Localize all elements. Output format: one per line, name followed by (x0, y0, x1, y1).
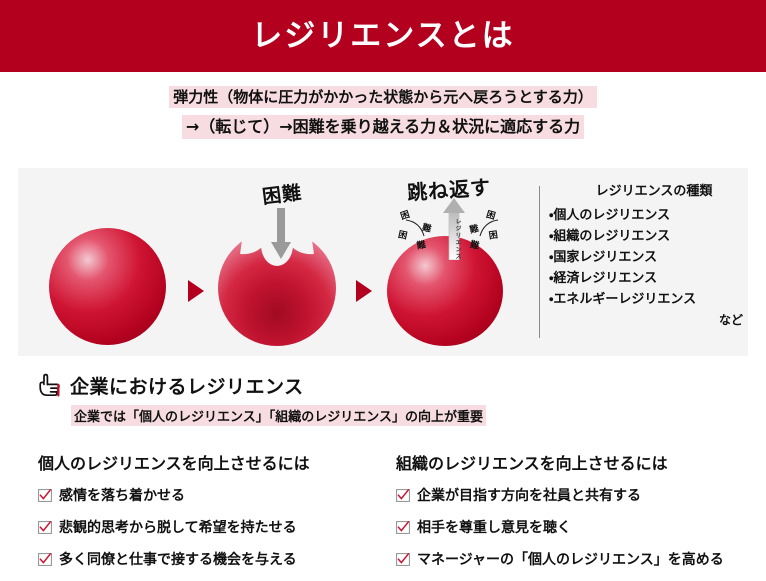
list-item-label: 企業が目指す方向を社員と共有する (417, 485, 641, 505)
header-banner: レジリエンスとは (0, 0, 766, 72)
resilience-arrow-label: レジリエンス (446, 218, 460, 260)
definition-line-2: →（転じて）→困難を乗り越える力＆状況に適応する力 (182, 115, 584, 139)
types-title: レジリエンスの種類 (559, 180, 749, 199)
list-item: マネージャーの「個人のレジリエンス」を高める (396, 549, 726, 569)
improvement-columns: 個人のレジリエンスを向上させるには 感情を落ち着かせる 悲観的思考から脱して希望… (38, 450, 748, 581)
infographic-page: レジリエンスとは 弾力性（物体に圧力がかかった状態から元へ戻ろうとする力） →（… (0, 0, 766, 570)
list-item: 多く同僚と仕事で接する機会を与える (38, 549, 368, 569)
list-item: ・エネルギーレジリエンス (549, 289, 749, 310)
definition-block: 弾力性（物体に圧力がかかった状態から元へ戻ろうとする力） →（転じて）→困難を乗… (0, 86, 766, 139)
column-title: 個人のレジリエンスを向上させるには (38, 450, 368, 474)
corporate-subtitle: 企業では「個人のレジリエンス」「組織のレジリエンス」の向上が重要 (71, 405, 486, 426)
resilience-types-block: レジリエンスの種類 ・個人のレジリエンス ・組織のレジリエンス ・国家レジリエン… (549, 180, 749, 328)
checkbox-checked-icon (38, 489, 52, 502)
list-item-label: 悲観的思考から脱して希望を持たせる (59, 517, 297, 537)
fragment-trail-left-icon (404, 216, 430, 242)
fragment-trail-right-icon (474, 216, 500, 242)
panel-divider (539, 186, 540, 338)
list-item-label: 多く同僚と仕事で接する機会を与える (59, 549, 297, 569)
list-item: ・国家レジリエンス (549, 247, 749, 268)
fragment-8: 難 (469, 241, 480, 252)
list-item: ・個人のレジリエンス (549, 205, 749, 226)
checkbox-checked-icon (38, 521, 52, 534)
list-item-label: 感情を落ち着かせる (59, 485, 185, 505)
stage-marker-2-icon (356, 280, 372, 302)
column-title: 組織のレジリエンスを向上させるには (396, 450, 726, 474)
types-list: ・個人のレジリエンス ・組織のレジリエンス ・国家レジリエンス ・経済レジリエン… (549, 205, 749, 310)
fragment-4: 難 (416, 241, 426, 251)
checkbox-checked-icon (396, 489, 410, 502)
definition-line-1: 弾力性（物体に圧力がかかった状態から元へ戻ろうとする力） (169, 86, 597, 108)
resilience-stage-diagram: 困難 跳ね返す レジリエンス (18, 168, 539, 356)
list-item: ・経済レジリエンス (549, 268, 749, 289)
checkbox-checked-icon (396, 553, 410, 566)
list-item: 悲観的思考から脱して希望を持たせる (38, 517, 368, 537)
types-etc-label: など (549, 311, 749, 328)
checkbox-checked-icon (396, 521, 410, 534)
list-item-label: マネージャーの「個人のレジリエンス」を高める (417, 549, 724, 569)
pointing-hand-icon (38, 373, 62, 399)
stage-marker-1-icon (188, 280, 204, 302)
list-item: 企業が目指す方向を社員と共有する (396, 485, 726, 505)
corporate-title: 企業におけるレジリエンス (70, 372, 304, 399)
list-item: 相手を尊重し意見を聴く (396, 517, 726, 537)
list-item: 感情を落ち着かせる (38, 485, 368, 505)
list-item-label: 相手を尊重し意見を聴く (417, 517, 571, 537)
difficulty-down-arrow-icon (270, 208, 292, 260)
column-individual: 個人のレジリエンスを向上させるには 感情を落ち着かせる 悲観的思考から脱して希望… (38, 450, 368, 581)
column-organizational: 組織のレジリエンスを向上させるには 企業が目指す方向を社員と共有する 相手を尊重… (396, 450, 726, 581)
corporate-heading-row: 企業におけるレジリエンス (38, 372, 738, 399)
difficulty-label: 困難 (261, 178, 304, 210)
page-title: レジリエンスとは (251, 21, 514, 52)
ball-normal (49, 228, 166, 345)
corporate-section: 企業におけるレジリエンス 企業では「個人のレジリエンス」「組織のレジリエンス」の… (38, 372, 738, 426)
checkbox-checked-icon (38, 553, 52, 566)
list-item: ・組織のレジリエンス (549, 226, 749, 247)
